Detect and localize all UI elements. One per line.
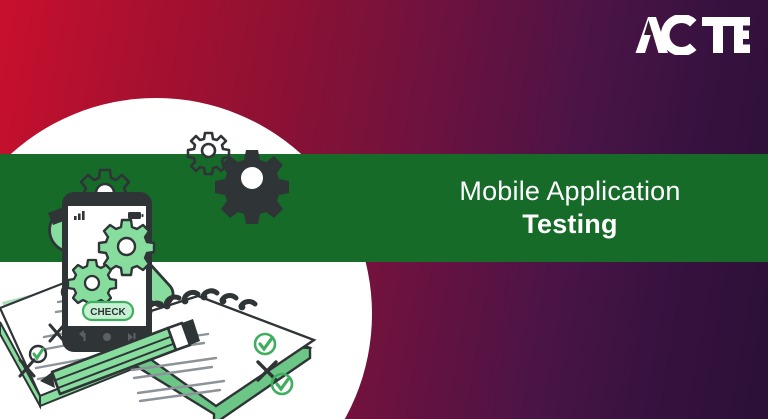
phone-check-button-label: CHECK (90, 307, 126, 318)
promo-banner: .ln { stroke:#8d9398; stroke-width:2.4; … (0, 0, 768, 419)
title-block: Mobile Application Testing (372, 154, 768, 262)
illustration-group: .ln { stroke:#8d9398; stroke-width:2.4; … (0, 96, 360, 419)
gear-filled-large-icon (215, 150, 289, 224)
acte-logo-icon (634, 15, 750, 55)
gear-outline-small-icon (188, 133, 229, 174)
phone-gear-small-icon (68, 260, 116, 308)
acte-logo: ACTE (634, 14, 750, 56)
phone-device: CHECK (62, 192, 154, 352)
phone-check-button[interactable]: CHECK (83, 302, 133, 320)
title-line-secondary: Testing (522, 209, 617, 240)
title-line-primary: Mobile Application (459, 176, 680, 207)
